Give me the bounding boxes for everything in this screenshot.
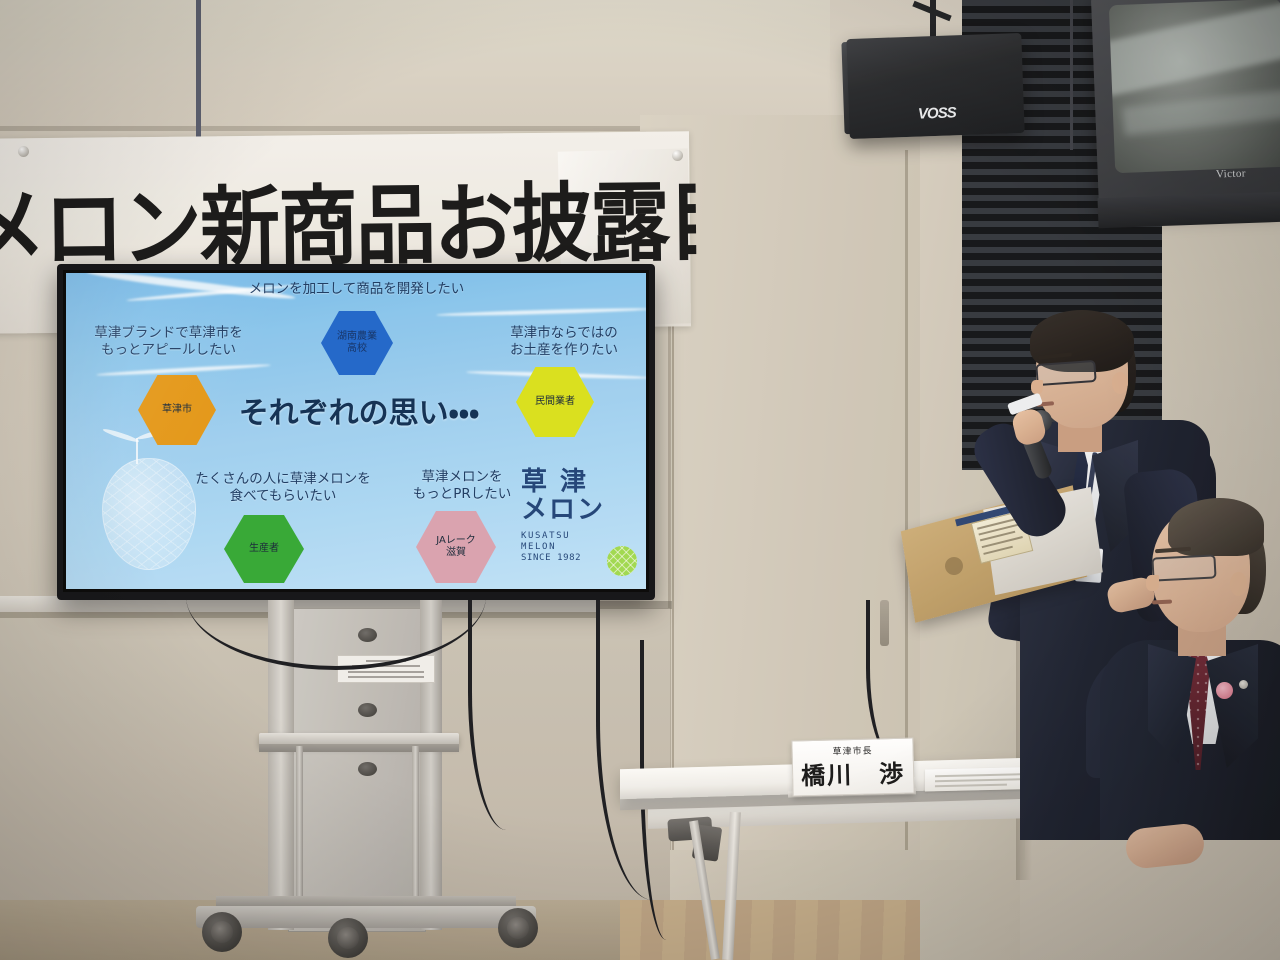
monitor-brand-label: Victor <box>1216 167 1246 180</box>
callout-left-line2: もっとアピールしたい <box>76 342 261 359</box>
presenter-ear <box>1112 372 1128 394</box>
callout-bottom-mid-line2: もっとPRしたい <box>402 486 522 503</box>
name-placard: 草津市長 橋川 渉 <box>791 738 914 797</box>
seated-man-lapel-pin <box>1216 682 1233 699</box>
slide-center-title: それぞれの思い・・・ <box>214 397 504 431</box>
callout-right-line1: 草津市ならではの <box>484 325 644 342</box>
presenter-eyeglasses <box>1035 360 1096 386</box>
stand-rail-left <box>296 746 303 908</box>
melon-logo-icon <box>607 546 637 576</box>
hexagon-konan-agri-highschool: 湖南農業 高校 <box>321 311 393 375</box>
ceiling-trim <box>0 126 700 131</box>
hex-konan-line2: 高校 <box>337 343 377 355</box>
seated-man-lapel-badge <box>1239 680 1248 689</box>
logo-en-line1: KUSATSU <box>521 531 637 542</box>
tv-stand-base <box>196 906 536 928</box>
presenter-nose <box>1031 380 1043 394</box>
speaker-body <box>846 33 1024 139</box>
slide-swoosh <box>436 307 646 317</box>
stand-vent-hole <box>358 762 377 776</box>
placard-name-text: 橋川 渉 <box>793 754 914 792</box>
stand-vent-hole <box>358 703 377 717</box>
hex-konan-line1: 湖南農業 <box>337 331 377 343</box>
screen-glare <box>1109 1 1280 96</box>
melon-leaf-left <box>102 427 140 443</box>
callout-bottom-mid-line1: 草津メロンを <box>402 469 522 486</box>
callout-top-line1: メロンを加工して商品を開発したい <box>234 281 479 298</box>
stand-rail-right <box>412 746 419 908</box>
seated-man-nose <box>1146 575 1159 591</box>
stand-caster-right <box>498 908 538 948</box>
logo-jp-line2: メロン <box>521 496 637 524</box>
callout-bottom-left-line1: たくさんの人に草津メロンを <box>178 471 388 488</box>
hex-producer-label: 生産者 <box>249 543 279 555</box>
seated-man-ear <box>1230 572 1247 596</box>
kusatsu-melon-logo: 草 津 メロン KUSATSU MELON SINCE 1982 <box>521 468 637 578</box>
stand-caster-left <box>202 912 242 952</box>
hex-kusatsu-label: 草津市 <box>162 404 192 416</box>
photo-scene: Victor VOSS メロン新商品お披露目会 メロンを加工して商品を開発したい… <box>0 0 1280 960</box>
callout-left-line1: 草津ブランドで草津市を <box>76 325 261 342</box>
banner-pin <box>18 146 29 157</box>
stand-caster-mid <box>328 918 368 958</box>
logo-jp-line1: 草 津 <box>521 468 637 496</box>
hex-ja-line2: 滋賀 <box>436 547 476 559</box>
seated-man-eyeglasses <box>1151 554 1216 581</box>
hexagon-producer: 生産者 <box>224 515 304 583</box>
screen-glare-secondary <box>1122 87 1280 135</box>
hex-private-label: 民間業者 <box>535 396 575 408</box>
slide-swoosh <box>96 363 271 377</box>
hexagon-ja-lake-shiga: JAレーク 滋賀 <box>416 511 496 583</box>
presentation-slide: メロンを加工して商品を開発したい 草津ブランドで草津市を もっとアピールしたい … <box>66 273 646 589</box>
hex-ja-line1: JAレーク <box>436 535 476 547</box>
crt-monitor-stand <box>1098 192 1280 228</box>
banner-pin <box>672 150 683 161</box>
blind-cord[interactable] <box>1070 0 1073 150</box>
callout-bottom-left-line2: 食べてもらいたい <box>178 488 388 505</box>
speaker-brand-label: VOSS <box>918 104 956 122</box>
callout-right-line2: お土産を作りたい <box>484 342 644 359</box>
crt-monitor-screen <box>1109 0 1280 173</box>
tv-stand-shelf-lip <box>259 744 459 752</box>
